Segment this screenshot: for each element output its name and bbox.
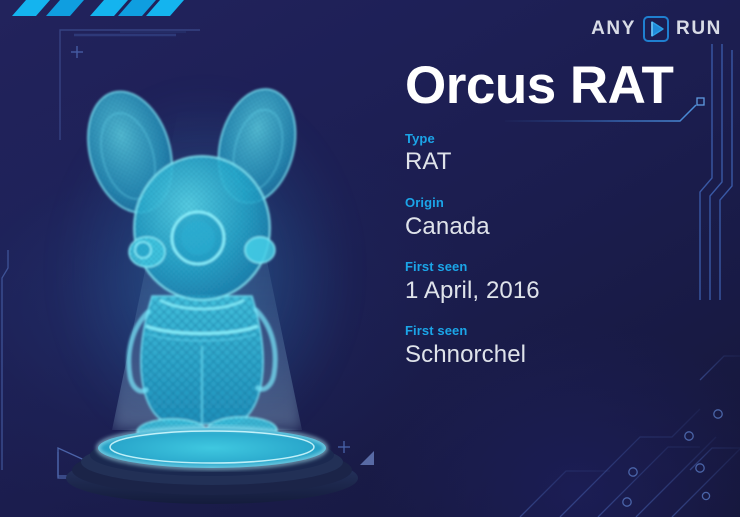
detail-value: RAT: [405, 146, 725, 178]
detail-field-alias: First seen Schnorchel: [405, 323, 725, 370]
hologram-figure: [20, 60, 380, 480]
detail-value: Canada: [405, 211, 725, 243]
circuit-trace-nodes: [623, 410, 722, 506]
anyrun-logo[interactable]: ANY RUN: [591, 14, 722, 44]
circuit-trace-lines: [520, 356, 740, 517]
detail-value: Schnorchel: [405, 339, 725, 371]
detail-label: Origin: [405, 195, 725, 211]
hologram-pedestal: [62, 400, 362, 505]
detail-label: First seen: [405, 323, 725, 339]
page-title: Orcus RAT: [405, 58, 725, 114]
play-triangle-icon: [641, 14, 671, 44]
detail-field-type: Type RAT: [405, 131, 725, 178]
plus-mark-top-left: [71, 46, 83, 58]
logo-text-run: RUN: [676, 18, 722, 40]
detail-label: First seen: [405, 259, 725, 275]
detail-field-origin: Origin Canada: [405, 195, 725, 242]
chevron-slashes-icon: [12, 0, 184, 16]
left-edge-line: [2, 250, 8, 470]
info-panel: Orcus RAT Type RAT Origin Canada First s…: [405, 58, 725, 371]
detail-value: 1 April, 2016: [405, 275, 725, 307]
logo-text-any: ANY: [591, 18, 636, 40]
detail-field-first-seen: First seen 1 April, 2016: [405, 259, 725, 306]
malware-profile-card: ANY RUN Orcus RAT Type RAT Origin Canada…: [0, 0, 740, 517]
detail-label: Type: [405, 131, 725, 147]
